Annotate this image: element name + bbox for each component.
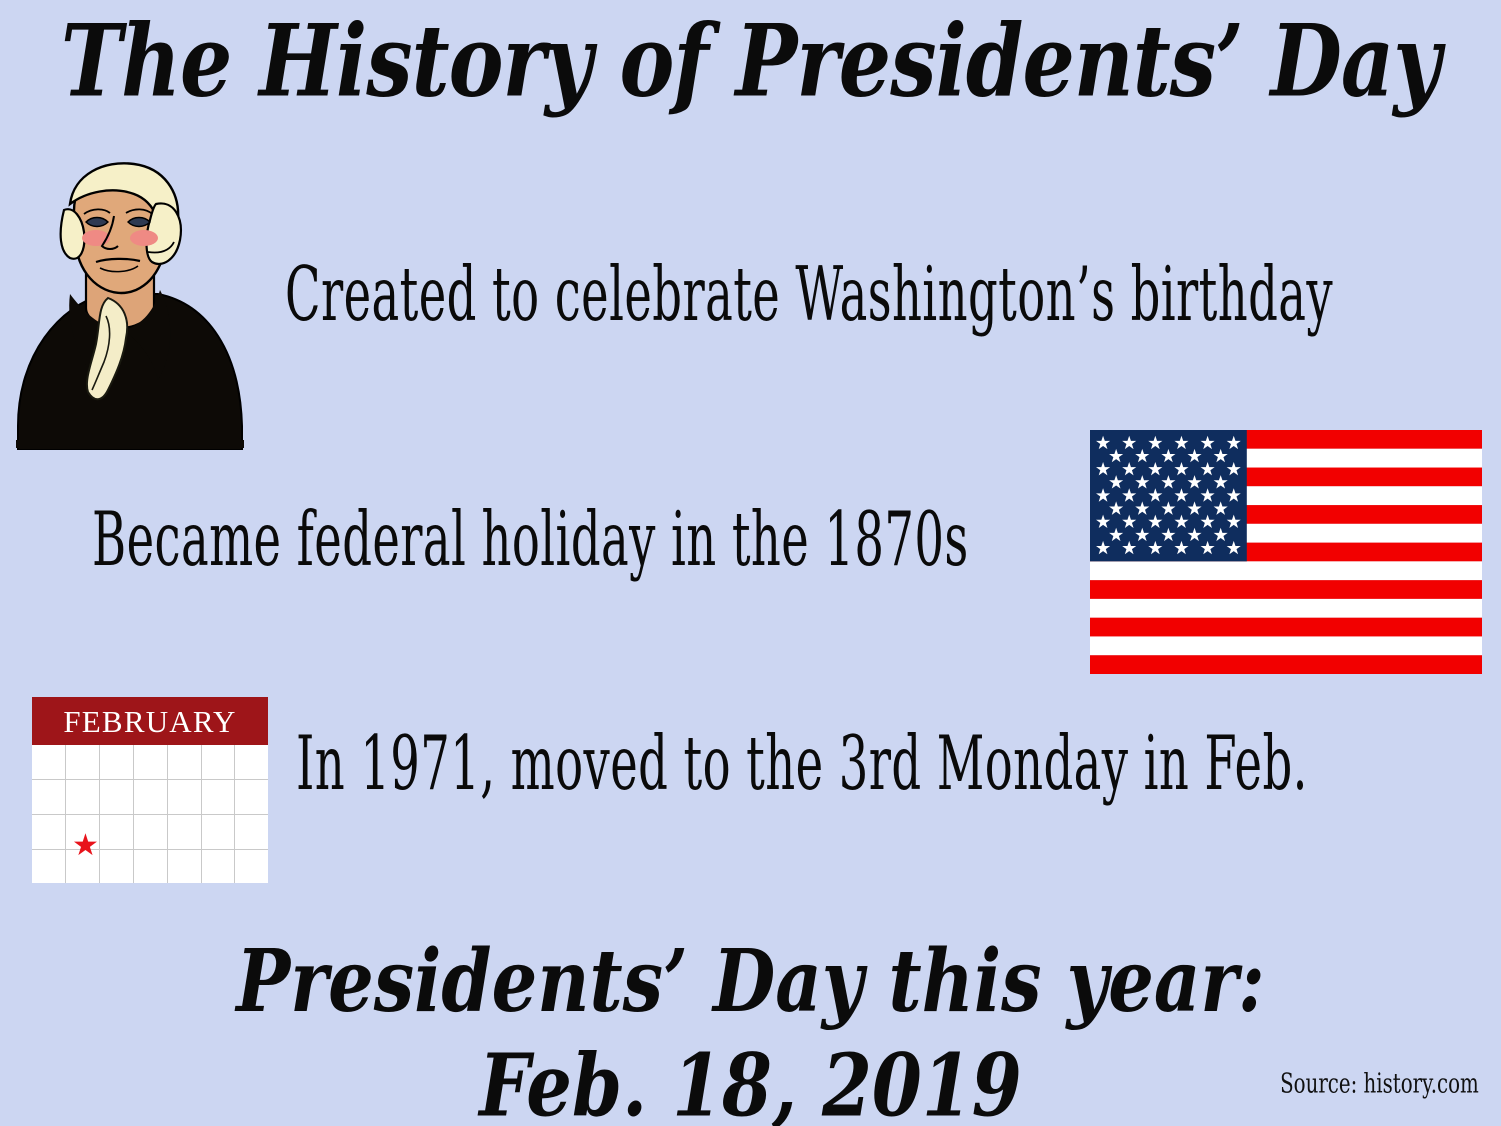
american-flag <box>1090 430 1482 674</box>
eye-left <box>86 218 108 227</box>
eye-right <box>128 218 150 227</box>
flag-stripe-8 <box>1090 561 1482 580</box>
calendar-gridline-h <box>32 814 268 815</box>
statement-federal-holiday: Became federal holiday in the 1870s <box>92 503 969 578</box>
coat-base <box>16 440 244 448</box>
source-credit: Source: history.com <box>1280 1069 1479 1100</box>
cheek-right <box>130 230 158 246</box>
closing-headline-line-1: Presidents’ Day this year: <box>23 930 1479 1035</box>
page-title: The History of Presidents’ Day <box>15 8 1486 115</box>
calendar-month-label: FEBRUARY <box>32 697 268 745</box>
george-washington-illustration <box>8 158 256 450</box>
presidents-day-poster: The History of Presidents’ Day <box>0 0 1501 1126</box>
flag-stripe-9 <box>1090 580 1482 599</box>
calendar-gridline-h <box>32 849 268 850</box>
february-calendar: FEBRUARY ★ <box>32 697 268 883</box>
flag-stripe-12 <box>1090 636 1482 655</box>
closing-headline-line-2: Feb. 18, 2019 <box>23 1035 1479 1126</box>
calendar-star-marker-icon: ★ <box>72 833 98 859</box>
calendar-gridline-h <box>32 779 268 780</box>
flag-stripe-10 <box>1090 599 1482 618</box>
flag-stripe-11 <box>1090 618 1482 637</box>
calendar-grid: ★ <box>32 745 268 883</box>
statement-washington-birthday: Created to celebrate Washington’s birthd… <box>285 258 1333 333</box>
statement-third-monday: In 1971, moved to the 3rd Monday in Feb. <box>296 727 1308 802</box>
flag-stripe-13 <box>1090 655 1482 674</box>
closing-headline: Presidents’ Day this year: Feb. 18, 2019 <box>23 930 1479 1126</box>
